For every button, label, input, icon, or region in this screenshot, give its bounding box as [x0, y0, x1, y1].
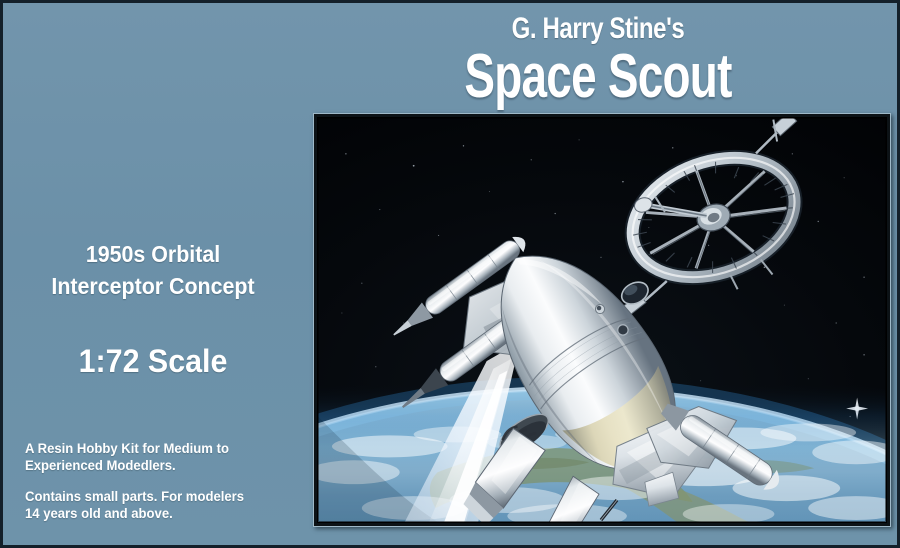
artwork-illustration — [317, 117, 887, 523]
title-block: G. Harry Stine's Space Scout — [303, 13, 893, 107]
scale-label: 1:72 Scale — [11, 343, 296, 379]
artwork-frame — [313, 113, 891, 527]
fine-print-line-2: Experienced Modedlers. — [25, 457, 308, 474]
fine-print-line-1: A Resin Hobby Kit for Medium to — [25, 440, 308, 457]
product-subtitle: 1950s Orbital Interceptor Concept — [14, 238, 293, 302]
page-title: Space Scout — [380, 47, 817, 107]
fine-print-block: A Resin Hobby Kit for Medium to Experien… — [25, 440, 308, 522]
fine-print-line-4: 14 years old and above. — [25, 505, 308, 522]
subtitle-line-1: 1950s Orbital — [14, 238, 293, 270]
fine-print-paragraph-1: A Resin Hobby Kit for Medium to Experien… — [25, 440, 308, 474]
fine-print-line-3: Contains small parts. For modelers — [25, 488, 308, 505]
fine-print-paragraph-2: Contains small parts. For modelers 14 ye… — [25, 488, 308, 522]
space-scene-svg — [318, 118, 886, 522]
box-art-panel: G. Harry Stine's Space Scout 1950s Orbit… — [0, 0, 900, 548]
author-byline: G. Harry Stine's — [362, 13, 834, 45]
subtitle-line-2: Interceptor Concept — [14, 270, 293, 302]
